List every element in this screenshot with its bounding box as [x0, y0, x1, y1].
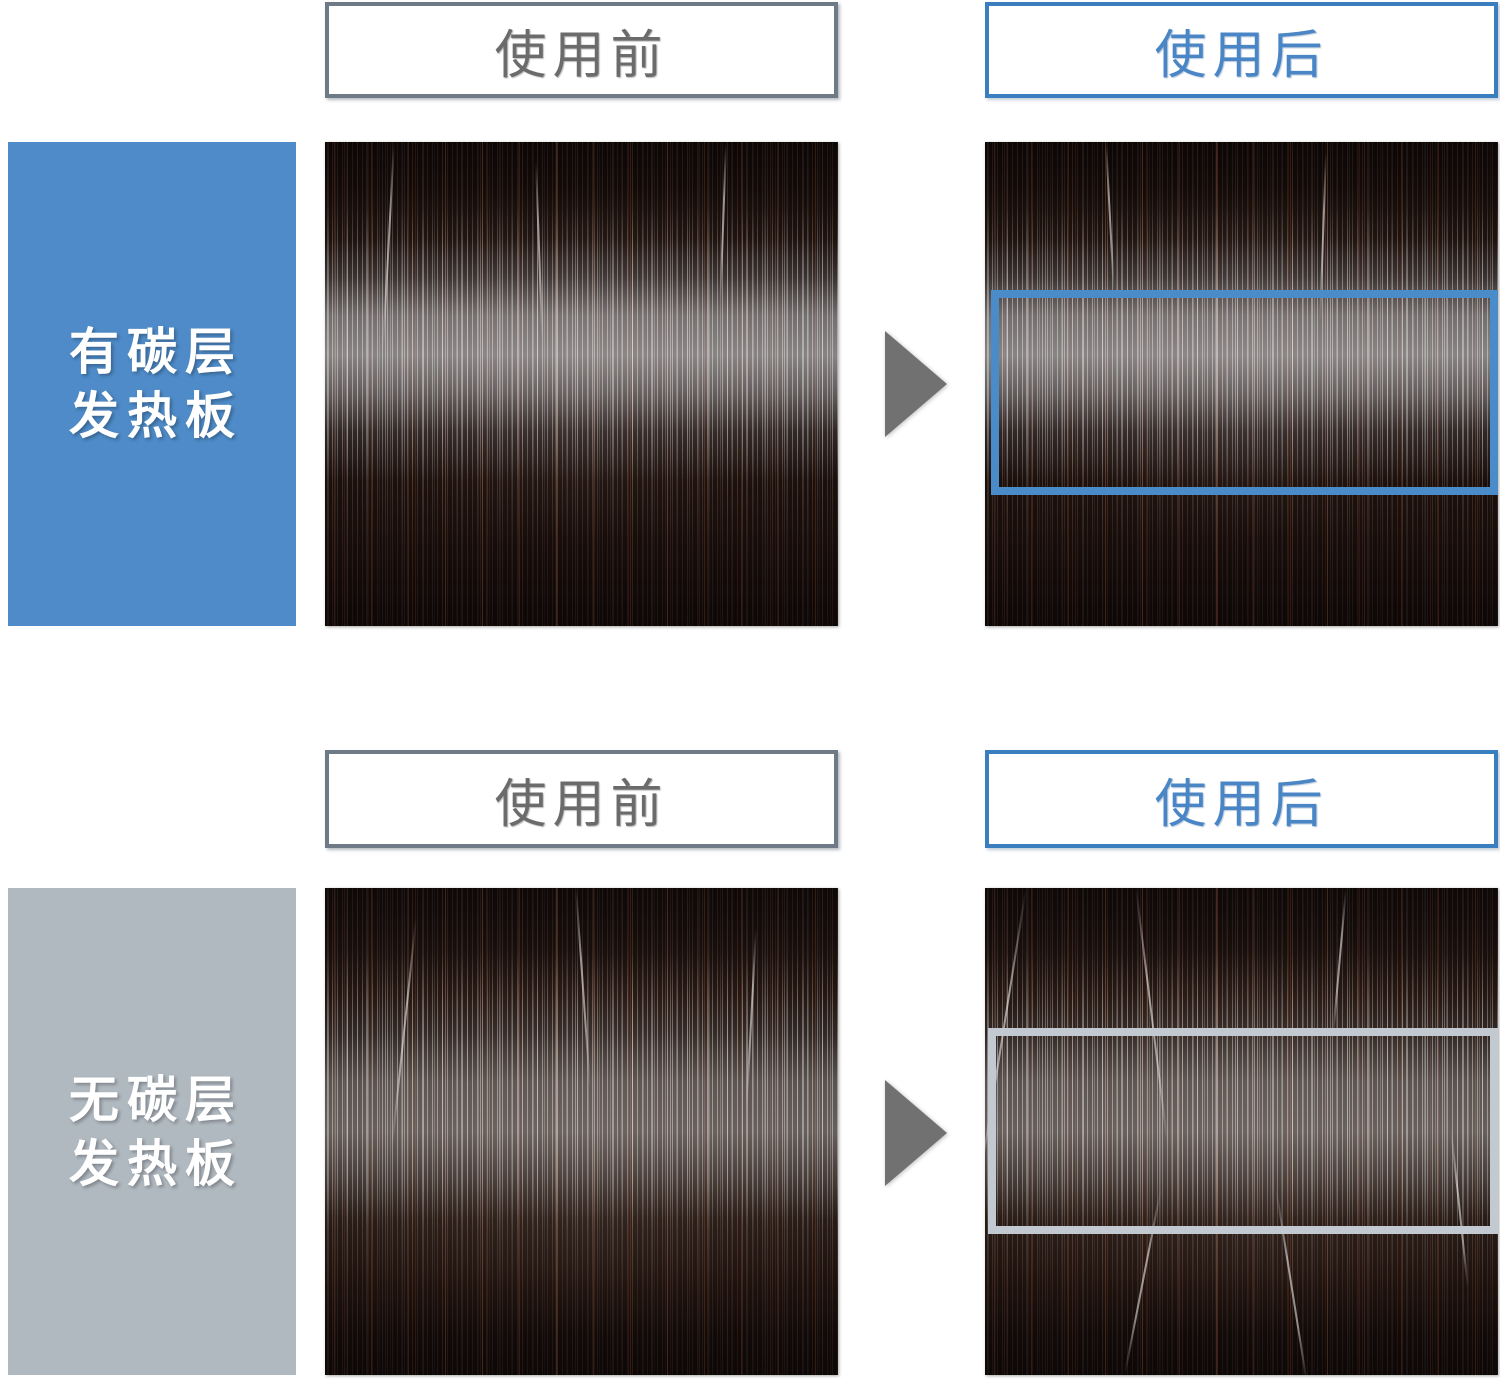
- row1-after-label-text: 使用后: [1154, 13, 1328, 88]
- row2-before-label-box: 使用前: [325, 750, 838, 848]
- row1-after-photo: [985, 142, 1498, 626]
- row1-before-label-box: 使用前: [325, 2, 838, 98]
- row1-before-photo: [325, 142, 838, 626]
- row1-category-panel: 有碳层 发热板: [8, 142, 296, 626]
- row1-before-label-text: 使用前: [494, 13, 668, 88]
- row2-arrow-right-icon: [885, 1080, 947, 1186]
- row2-after-label-text: 使用后: [1154, 762, 1328, 837]
- row1-after-highlight-box[interactable]: [991, 290, 1498, 495]
- row2-before-photo: [325, 888, 838, 1375]
- row2-before-label-text: 使用前: [494, 762, 668, 837]
- hair-flyaway-overlay: [325, 142, 838, 626]
- row2-category-line1: 无碳层: [61, 1068, 243, 1132]
- row2-category-panel: 无碳层 发热板: [8, 888, 296, 1375]
- row2-after-photo: [985, 888, 1498, 1375]
- hair-flyaway-overlay: [325, 888, 838, 1375]
- row2-after-highlight-box[interactable]: [988, 1028, 1498, 1234]
- row1-arrow-right-icon: [885, 331, 947, 437]
- row2-category-line2: 发热板: [61, 1132, 243, 1196]
- row1-after-label-box: 使用后: [985, 2, 1498, 98]
- row2-after-label-box: 使用后: [985, 750, 1498, 848]
- row1-category-line2: 发热板: [61, 384, 243, 448]
- row1-category-line1: 有碳层: [61, 320, 243, 384]
- comparison-figure: 使用前 使用后 有碳层 发热板 使用前 使用后 无碳层: [0, 0, 1500, 1380]
